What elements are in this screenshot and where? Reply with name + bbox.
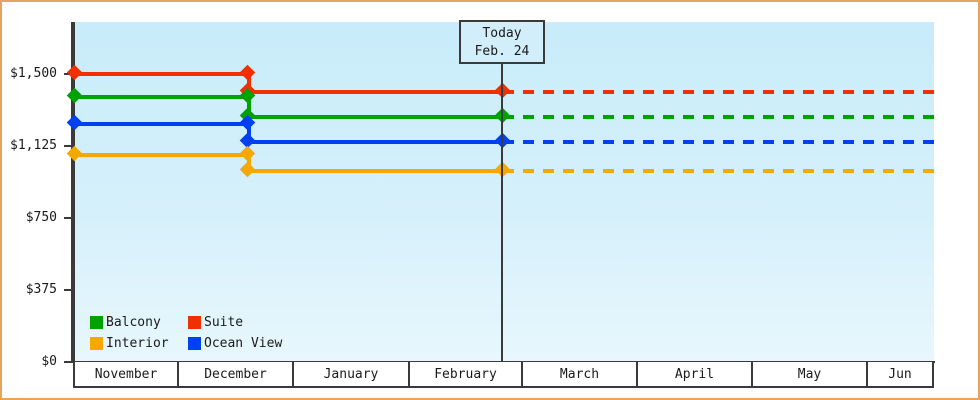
today-callout-date: Feb. 24 [461,43,543,61]
legend-item-balcony[interactable]: Balcony [90,315,188,330]
today-vertical-line [501,64,503,362]
series-balcony-segment-1 [74,95,251,99]
series-balcony-forecast [503,115,934,119]
series-suite-segment-2 [247,90,503,94]
series-ocean-view-segment-1 [74,122,251,126]
month-cell-may[interactable]: May [753,362,868,388]
month-cell-january[interactable]: January [294,362,410,388]
legend-label-interior: Interior [106,336,169,351]
month-cell-december[interactable]: December [179,362,294,388]
series-suite-segment-1 [74,72,251,76]
legend-swatch-suite-icon [188,316,201,329]
chart-legend: Balcony Suite Interior Ocean View [90,312,282,354]
series-interior-segment-1 [74,153,251,157]
legend-item-suite[interactable]: Suite [188,315,243,330]
month-cell-february[interactable]: February [410,362,523,388]
series-interior-segment-2 [247,169,503,173]
series-ocean-view-segment-2 [247,140,503,144]
legend-swatch-ocean-view-icon [188,337,201,350]
y-axis-label-1125: $1,125 [10,139,57,152]
today-callout-box: Today Feb. 24 [459,20,545,64]
legend-label-suite: Suite [204,315,243,330]
legend-label-ocean-view: Ocean View [204,336,282,351]
y-axis-label-375: $375 [26,283,57,296]
legend-row-1: Balcony Suite [90,312,282,333]
y-axis-label-1500: $1,500 [10,67,57,80]
month-cell-november[interactable]: November [73,362,179,388]
y-tick-1125 [64,145,72,147]
legend-label-balcony: Balcony [106,315,161,330]
series-balcony-segment-2 [247,115,503,119]
series-suite-forecast [503,90,934,94]
y-tick-750 [64,217,72,219]
legend-item-ocean-view[interactable]: Ocean View [188,336,282,351]
price-history-chart: $1,500 $1,125 $750 $375 $0 Today Feb. 24 [0,0,980,400]
month-axis-row: November December January February March… [73,362,935,388]
y-tick-375 [64,289,72,291]
month-cell-jun[interactable]: Jun [868,362,934,388]
series-interior-forecast [503,169,934,173]
legend-item-interior[interactable]: Interior [90,336,188,351]
legend-swatch-interior-icon [90,337,103,350]
y-axis-label-0: $0 [41,355,57,368]
y-tick-0 [64,361,72,363]
y-axis-label-750: $750 [26,211,57,224]
legend-row-2: Interior Ocean View [90,333,282,354]
month-cell-march[interactable]: March [523,362,638,388]
legend-swatch-balcony-icon [90,316,103,329]
series-ocean-view-forecast [503,140,934,144]
month-cell-april[interactable]: April [638,362,753,388]
today-callout-title: Today [461,25,543,43]
